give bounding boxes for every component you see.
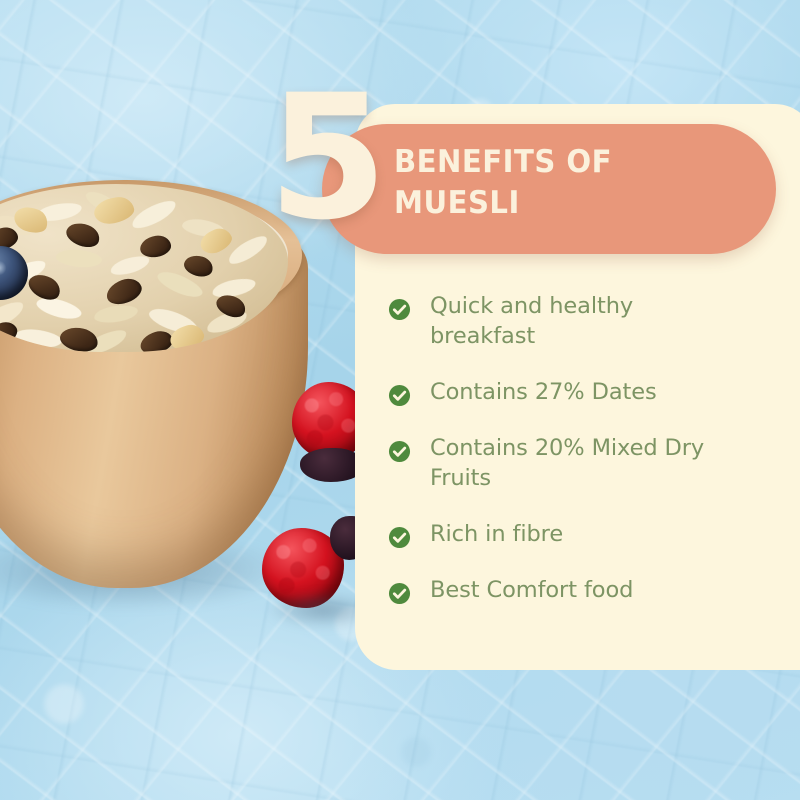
page-title: Benefits of Muesli	[394, 142, 732, 224]
poster-canvas: Benefits of Muesli 5 Quick and healthy b…	[0, 0, 800, 800]
list-item: Quick and healthy breakfast	[388, 292, 718, 352]
list-item-label: Contains 27% Dates	[430, 378, 657, 408]
check-circle-icon	[388, 440, 411, 463]
benefits-list: Quick and healthy breakfast Contains 27%…	[388, 292, 718, 605]
list-item: Rich in fibre	[388, 520, 718, 550]
check-circle-icon	[388, 384, 411, 407]
list-item-label: Best Comfort food	[430, 576, 633, 606]
list-item: Contains 20% Mixed Dry Fruits	[388, 434, 718, 494]
list-item-label: Rich in fibre	[430, 520, 563, 550]
list-item: Best Comfort food	[388, 576, 718, 606]
check-circle-icon	[388, 526, 411, 549]
list-item-label: Quick and healthy breakfast	[430, 292, 718, 352]
list-item-label: Contains 20% Mixed Dry Fruits	[430, 434, 718, 494]
list-item: Contains 27% Dates	[388, 378, 718, 408]
headline-number: 5	[268, 72, 384, 244]
check-circle-icon	[388, 582, 411, 605]
check-circle-icon	[388, 298, 411, 321]
